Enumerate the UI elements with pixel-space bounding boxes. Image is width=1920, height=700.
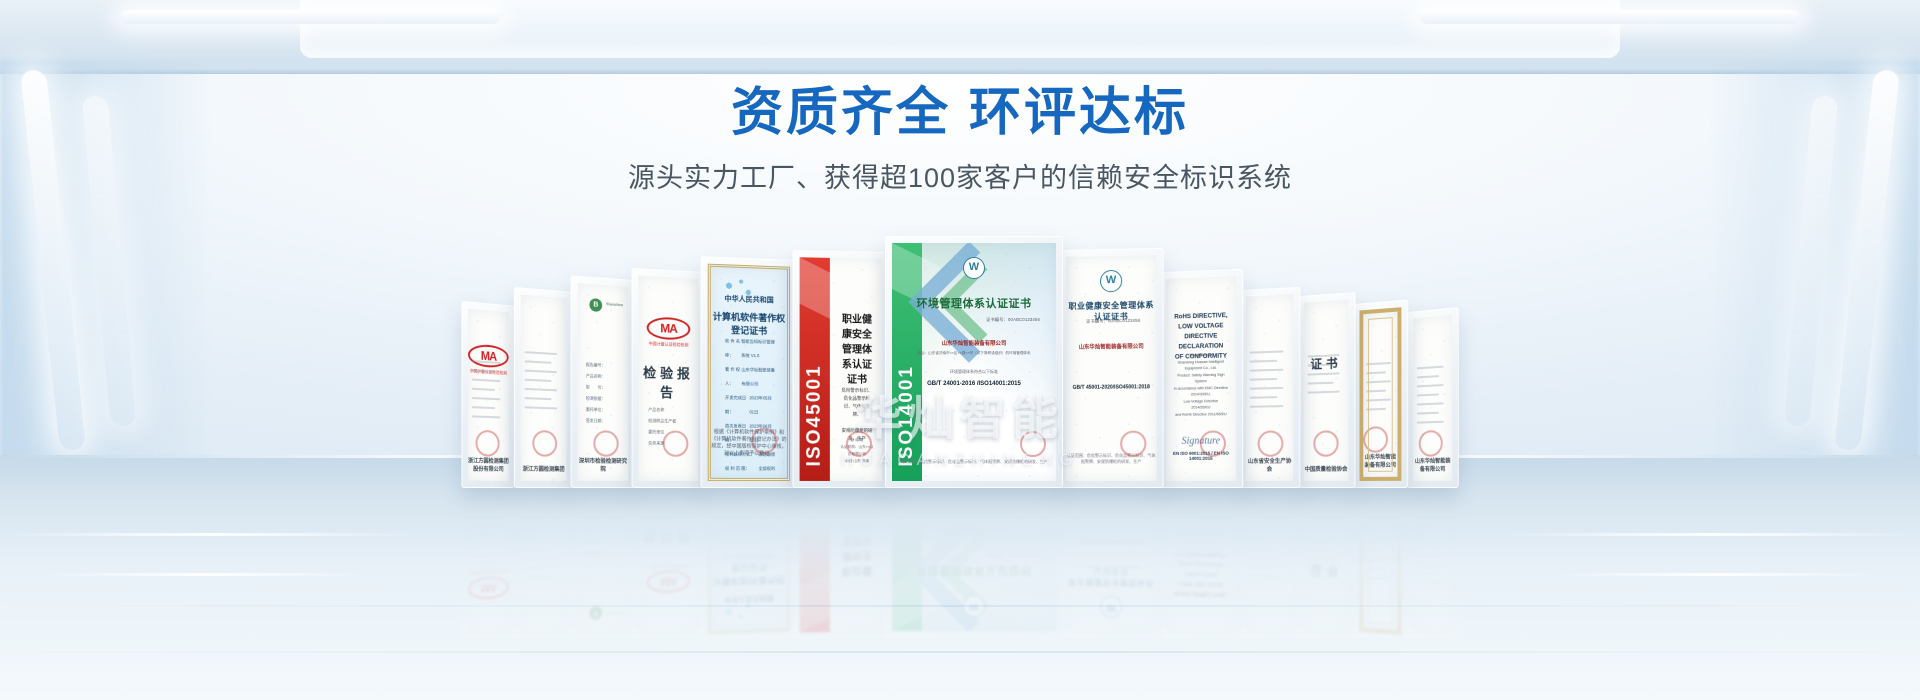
ceiling-panel: [0, 0, 1920, 74]
certificate-paper: W职业健康安全管理体系认证证书证书编号：00ABC0123456山东华灿智能装备…: [1066, 255, 1157, 481]
cert-ruled-lines: [472, 360, 505, 426]
cert-company: 山东华灿智能装备有限公司: [892, 339, 1056, 347]
certificate-paper: 中华人民共和国计算机软件著作权登记证书软 件 名 称：智能告知标识管理系统 V1…: [708, 264, 790, 481]
cert-watermark: [1363, 312, 1397, 477]
red-seal-stamp-icon: [532, 430, 557, 457]
certificate-paper: 山东省安全生产协会: [1246, 294, 1294, 481]
certificate-wall: MA中国计量认证检验检测浙江方圆检测集团股份有限公司浙江方圆检测集团BShenz…: [460, 228, 1460, 488]
cert-title: 环境管理体系认证证书: [892, 295, 1056, 311]
ceiling-inner-panel: [300, 0, 1620, 58]
certificate-paper: ISO14001W环境管理体系认证证书证书编号：00ABC0123456山东华灿…: [892, 243, 1056, 481]
cert-footer: 山东省安全生产协会: [1246, 457, 1294, 473]
certification-body-name: Shenzhen: [606, 301, 623, 307]
cert-footer: 浙江方圆检测集团: [521, 464, 567, 472]
red-seal-stamp-icon: [1200, 430, 1226, 456]
certificate-frame[interactable]: RoHS DIRECTIVE,LOW VOLTAGE DIRECTIVEDECL…: [1159, 269, 1243, 488]
cert-field-value: 智能告知标识管理系统 V1.0: [741, 335, 775, 364]
floor-surface: [0, 455, 1920, 700]
ceiling-light-left: [120, 10, 500, 24]
cert-field-list: 软 件 名 称：智能告知标识管理系统 V1.0著 作 权 人：山东华灿智能装备有…: [725, 334, 775, 481]
certificate-frame[interactable]: ISO14001W环境管理体系认证证书证书编号：00ABC0123456山东华灿…: [885, 236, 1063, 488]
certificate-paper: BShenzhen报告编号：产品名称：型 号：检测依据：委托单位：签发日期：深圳…: [578, 283, 629, 481]
red-seal-stamp-icon: [1363, 426, 1388, 453]
certificate-frame[interactable]: 证书中国质量检验协会: [1297, 292, 1355, 488]
cert-field: 委托单位：: [586, 403, 624, 415]
cert-field: 权 利 范 围：全部权利: [725, 462, 775, 476]
cert-field-label: 开发完成日期：: [725, 391, 749, 420]
cert-number: 证书编号：00ABC0123456: [1086, 318, 1140, 325]
red-seal-stamp-icon: [751, 428, 777, 454]
certificate-frame[interactable]: MA中国计量认证检验检测检验报告产品名称检测样品生产者委托单位任务来源: [632, 268, 705, 488]
cert-footer: 深圳市检验检测研究院: [578, 456, 629, 473]
cert-ruled-lines: [1308, 354, 1345, 401]
certificate-paper: MA中国计量认证检验检测检验报告产品名称检测样品生产者委托单位任务来源: [639, 275, 699, 481]
certificate-paper: 证书中国质量检验协会: [1304, 300, 1349, 481]
cert-field-list: 报告编号：产品名称：型 号：检测依据：委托单位：签发日期：: [586, 359, 624, 427]
cert-standard: GB/T 45001-2020/ISO45001:2018: [1066, 384, 1157, 391]
cert-standard: GB/T 24001-2016 /ISO14001:2015: [892, 381, 1056, 387]
certificate-frame[interactable]: 山东华灿智能装备有限公司: [1407, 307, 1459, 488]
cert-scope: 认证范围：危险警示标识、危化品警示标识、气体报警牌、安规防爆柜的研发、生产: [892, 459, 1056, 465]
cert-field-label: 著 作 权 人：: [725, 362, 742, 391]
certificate-paper: ISO45001职业健康安全管理体系认证证书危险警示标识、危化品警示标识、气体报…: [800, 257, 882, 481]
red-seal-stamp-icon: [1120, 431, 1146, 457]
red-seal-stamp-icon: [1313, 430, 1338, 457]
red-seal-stamp-icon: [476, 430, 500, 457]
floor-line-2: [0, 651, 1920, 653]
cert-title-line-2: 计算机软件著作权登记证书: [711, 309, 787, 337]
red-seal-stamp-icon: [663, 430, 689, 456]
iso-standard-band: ISO45001: [800, 257, 830, 481]
certificate-paper: MA中国计量认证检验检测浙江方圆检测集团股份有限公司: [468, 309, 509, 481]
cert-field: 检测样品生产者: [648, 415, 692, 427]
floor-streak-1: [0, 533, 420, 536]
cert-field: 著 作 权 人：山东华灿智能装备有限公司: [725, 362, 775, 391]
cert-company: 山东华灿智能装备有限公司: [1066, 342, 1157, 351]
cert-address: 地址：山东省济南市××区××路××号（以下简称该组织）的环境管理体系: [892, 351, 1056, 356]
certificate-paper: 浙江方圆检测集团: [521, 295, 567, 481]
cert-field-value: 山东华灿智能装备有限公司: [741, 363, 775, 392]
certification-body-logo-icon: B: [589, 298, 602, 312]
cert-field-value: 2023SR0123456: [744, 476, 775, 481]
cert-ruled-lines: [1366, 361, 1394, 417]
floor-streak-4: [1550, 573, 1880, 576]
cert-body: Manufacturer:Shandong Huacan Intelligent…: [1174, 351, 1228, 417]
iso-standard-label: ISO45001: [804, 365, 826, 467]
cert-field-label: 登 记 号：: [725, 476, 744, 481]
cert-field: 产品名称: [648, 403, 692, 415]
certification-body-logo-icon: W: [963, 257, 985, 279]
cert-number: 证书编号：00ABC0123456: [986, 317, 1040, 323]
certificate-frame[interactable]: 山东省安全生产协会: [1239, 287, 1300, 488]
banner-headline: 资质齐全环评达标 源头实力工厂、获得超100家客户的信赖安全标识系统: [0, 84, 1920, 195]
cert-field-value: 2023年05月01日: [749, 391, 775, 420]
ceiling-light-right: [1420, 10, 1800, 24]
cert-footer: 中国质量检验协会: [1304, 465, 1349, 473]
cert-footer: 浙江方圆检测集团股份有限公司: [468, 456, 509, 473]
cert-standard-label: 环境管理体系符合以下标准: [892, 369, 1056, 375]
cert-field: 开发完成日期：2023年05月01日: [725, 391, 775, 420]
page-subtitle: 源头实力工厂、获得超100家客户的信赖安全标识系统: [0, 156, 1920, 195]
red-seal-stamp-icon: [846, 431, 872, 457]
certificate-frame[interactable]: 山东华灿智能装备有限公司: [1353, 300, 1408, 488]
cert-ruled-lines: [1417, 365, 1449, 430]
certificate-frame[interactable]: BShenzhen报告编号：产品名称：型 号：检测依据：委托单位：签发日期：深圳…: [571, 275, 635, 488]
floor-line-1: [0, 605, 1920, 607]
certificate-paper: 山东华灿智能装备有限公司: [1360, 307, 1402, 481]
cert-field-label: 权 利 范 围：: [725, 462, 750, 476]
red-seal-stamp-icon: [1258, 430, 1284, 457]
red-seal-stamp-icon: [1020, 431, 1046, 457]
cert-field: 登 记 号：2023SR0123456: [725, 476, 775, 481]
certificate-paper: RoHS DIRECTIVE,LOW VOLTAGE DIRECTIVEDECL…: [1166, 276, 1236, 481]
floor-streak-3: [40, 573, 370, 576]
cert-footer: 山东华灿智能装备有限公司: [1363, 452, 1397, 469]
certificate-frame[interactable]: W职业健康安全管理体系认证证书证书编号：00ABC0123456山东华灿智能装备…: [1059, 248, 1164, 488]
cert-field-value: 全部权利: [758, 462, 775, 476]
cert-ruled-lines: [1250, 350, 1289, 415]
cert-field: 检测依据：: [586, 392, 624, 404]
certificate-paper: 山东华灿智能装备有限公司: [1413, 315, 1452, 481]
title-part-1: 资质齐全: [731, 84, 951, 142]
certificate-frame[interactable]: ISO45001职业健康安全管理体系认证证书危险警示标识、危化品警示标识、气体报…: [792, 250, 889, 488]
cert-title: 职业健康安全管理体系认证证书: [840, 310, 874, 386]
banner-stage: MA中国计量认证检验检测浙江方圆检测集团股份有限公司浙江方圆检测集团BShenz…: [0, 0, 1920, 700]
title-part-2: 环评达标: [969, 84, 1189, 142]
iso-standard-band: ISO14001: [892, 243, 922, 481]
cert-field: 型 号：: [586, 381, 624, 393]
certificate-frame[interactable]: 浙江方圆检测集团: [514, 287, 573, 488]
cert-field: 软 件 名 称：智能告知标识管理系统 V1.0: [725, 334, 775, 363]
cert-standard: EN ISO 9001:2015 / EN ISO 14001:2015: [1166, 451, 1236, 461]
cert-title: 检验报告: [639, 362, 699, 402]
certificate-frame[interactable]: MA中国计量认证检验检测浙江方圆检测集团股份有限公司: [461, 301, 515, 488]
cert-field-label: 软 件 名 称：: [725, 334, 741, 363]
cert-ruled-lines: [525, 351, 563, 417]
cert-scope: 认证范围：危险警示标识、危化品警示标识、气体报警牌、安规防爆柜的研发、生产: [1066, 453, 1157, 465]
certificate-frame[interactable]: 中华人民共和国计算机软件著作权登记证书软 件 名 称：智能告知标识管理系统 V1…: [701, 256, 797, 488]
cert-field: 签发日期：: [586, 414, 624, 426]
page-title: 资质齐全环评达标: [0, 84, 1920, 142]
floor-streak-2: [1500, 533, 1920, 536]
red-seal-stamp-icon: [593, 430, 618, 457]
cert-footer: 山东华灿智能装备有限公司: [1413, 456, 1452, 473]
